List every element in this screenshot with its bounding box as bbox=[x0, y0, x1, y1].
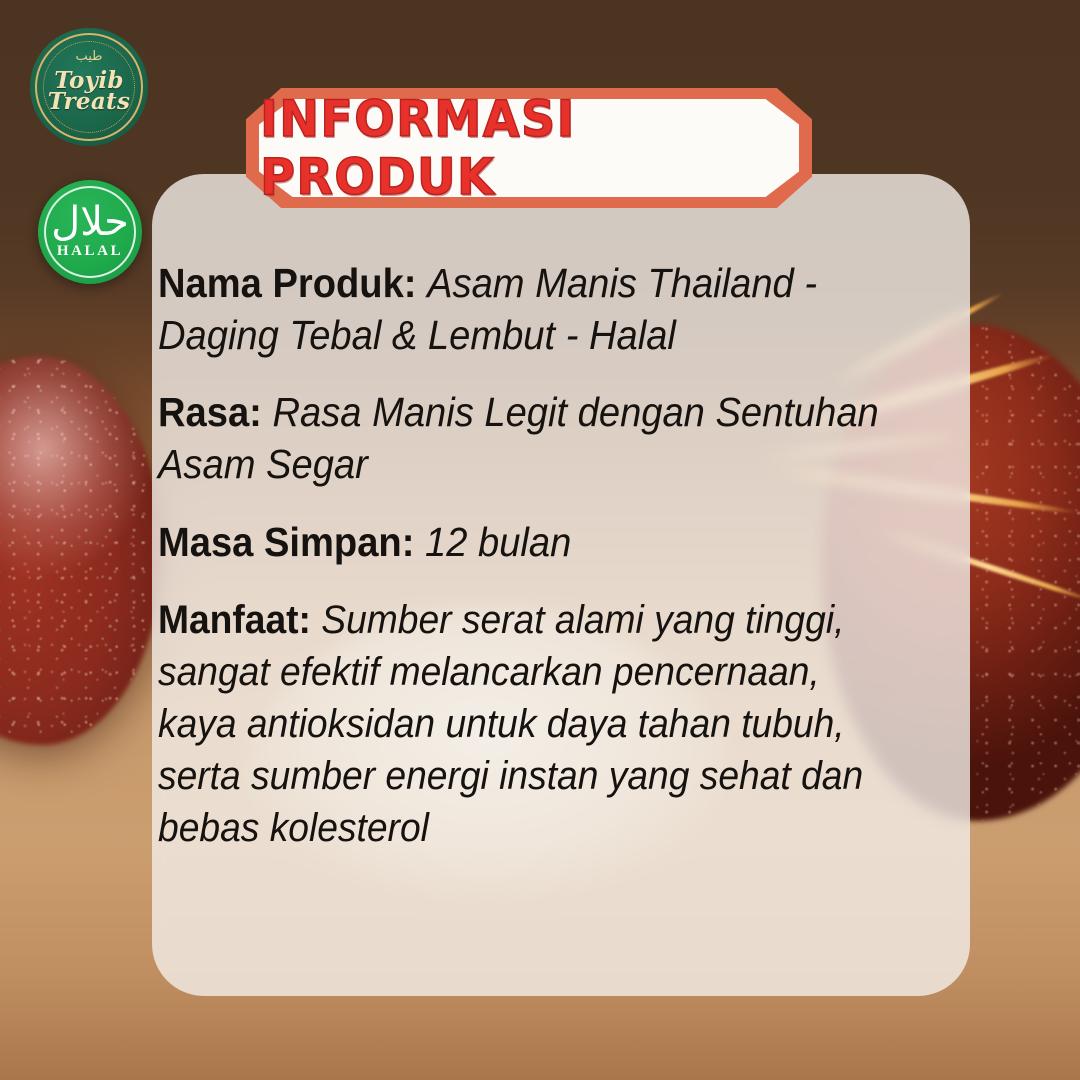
info-value-rasa: Rasa Manis Legit dengan Sentuhan Asam Se… bbox=[158, 389, 879, 487]
toyib-treats-logo: طيب Toyib Treats bbox=[30, 28, 148, 146]
info-row-masa-simpan: Masa Simpan: 12 bulan bbox=[158, 517, 902, 569]
info-row-nama-produk: Nama Produk: Asam Manis Thailand - Dagin… bbox=[158, 258, 902, 361]
info-label-masa-simpan: Masa Simpan: bbox=[158, 519, 414, 565]
halal-arabic-text: حلال bbox=[51, 202, 129, 242]
info-label-nama-produk: Nama Produk: bbox=[158, 260, 416, 306]
product-info-poster: طيب Toyib Treats حلال HALAL INFORMASI PR… bbox=[0, 0, 1080, 1080]
title-banner: INFORMASI PRODUK bbox=[246, 88, 812, 208]
info-label-rasa: Rasa: bbox=[158, 389, 262, 435]
info-row-manfaat: Manfaat: Sumber serat alami yang tinggi,… bbox=[158, 594, 902, 854]
page-title: INFORMASI PRODUK bbox=[260, 88, 798, 208]
halal-latin-text: HALAL bbox=[57, 243, 123, 260]
product-info-list: Nama Produk: Asam Manis Thailand - Dagin… bbox=[158, 258, 958, 854]
info-label-manfaat: Manfaat: bbox=[158, 598, 311, 642]
logo-wordmark-line2: Treats bbox=[48, 91, 130, 112]
logo-arabic-mark: طيب bbox=[30, 50, 148, 63]
logo-wordmark: Toyib Treats bbox=[48, 70, 130, 112]
halal-badge: حلال HALAL bbox=[38, 180, 142, 284]
info-row-rasa: Rasa: Rasa Manis Legit dengan Sentuhan A… bbox=[158, 387, 902, 490]
info-value-masa-simpan: 12 bulan bbox=[425, 519, 571, 565]
